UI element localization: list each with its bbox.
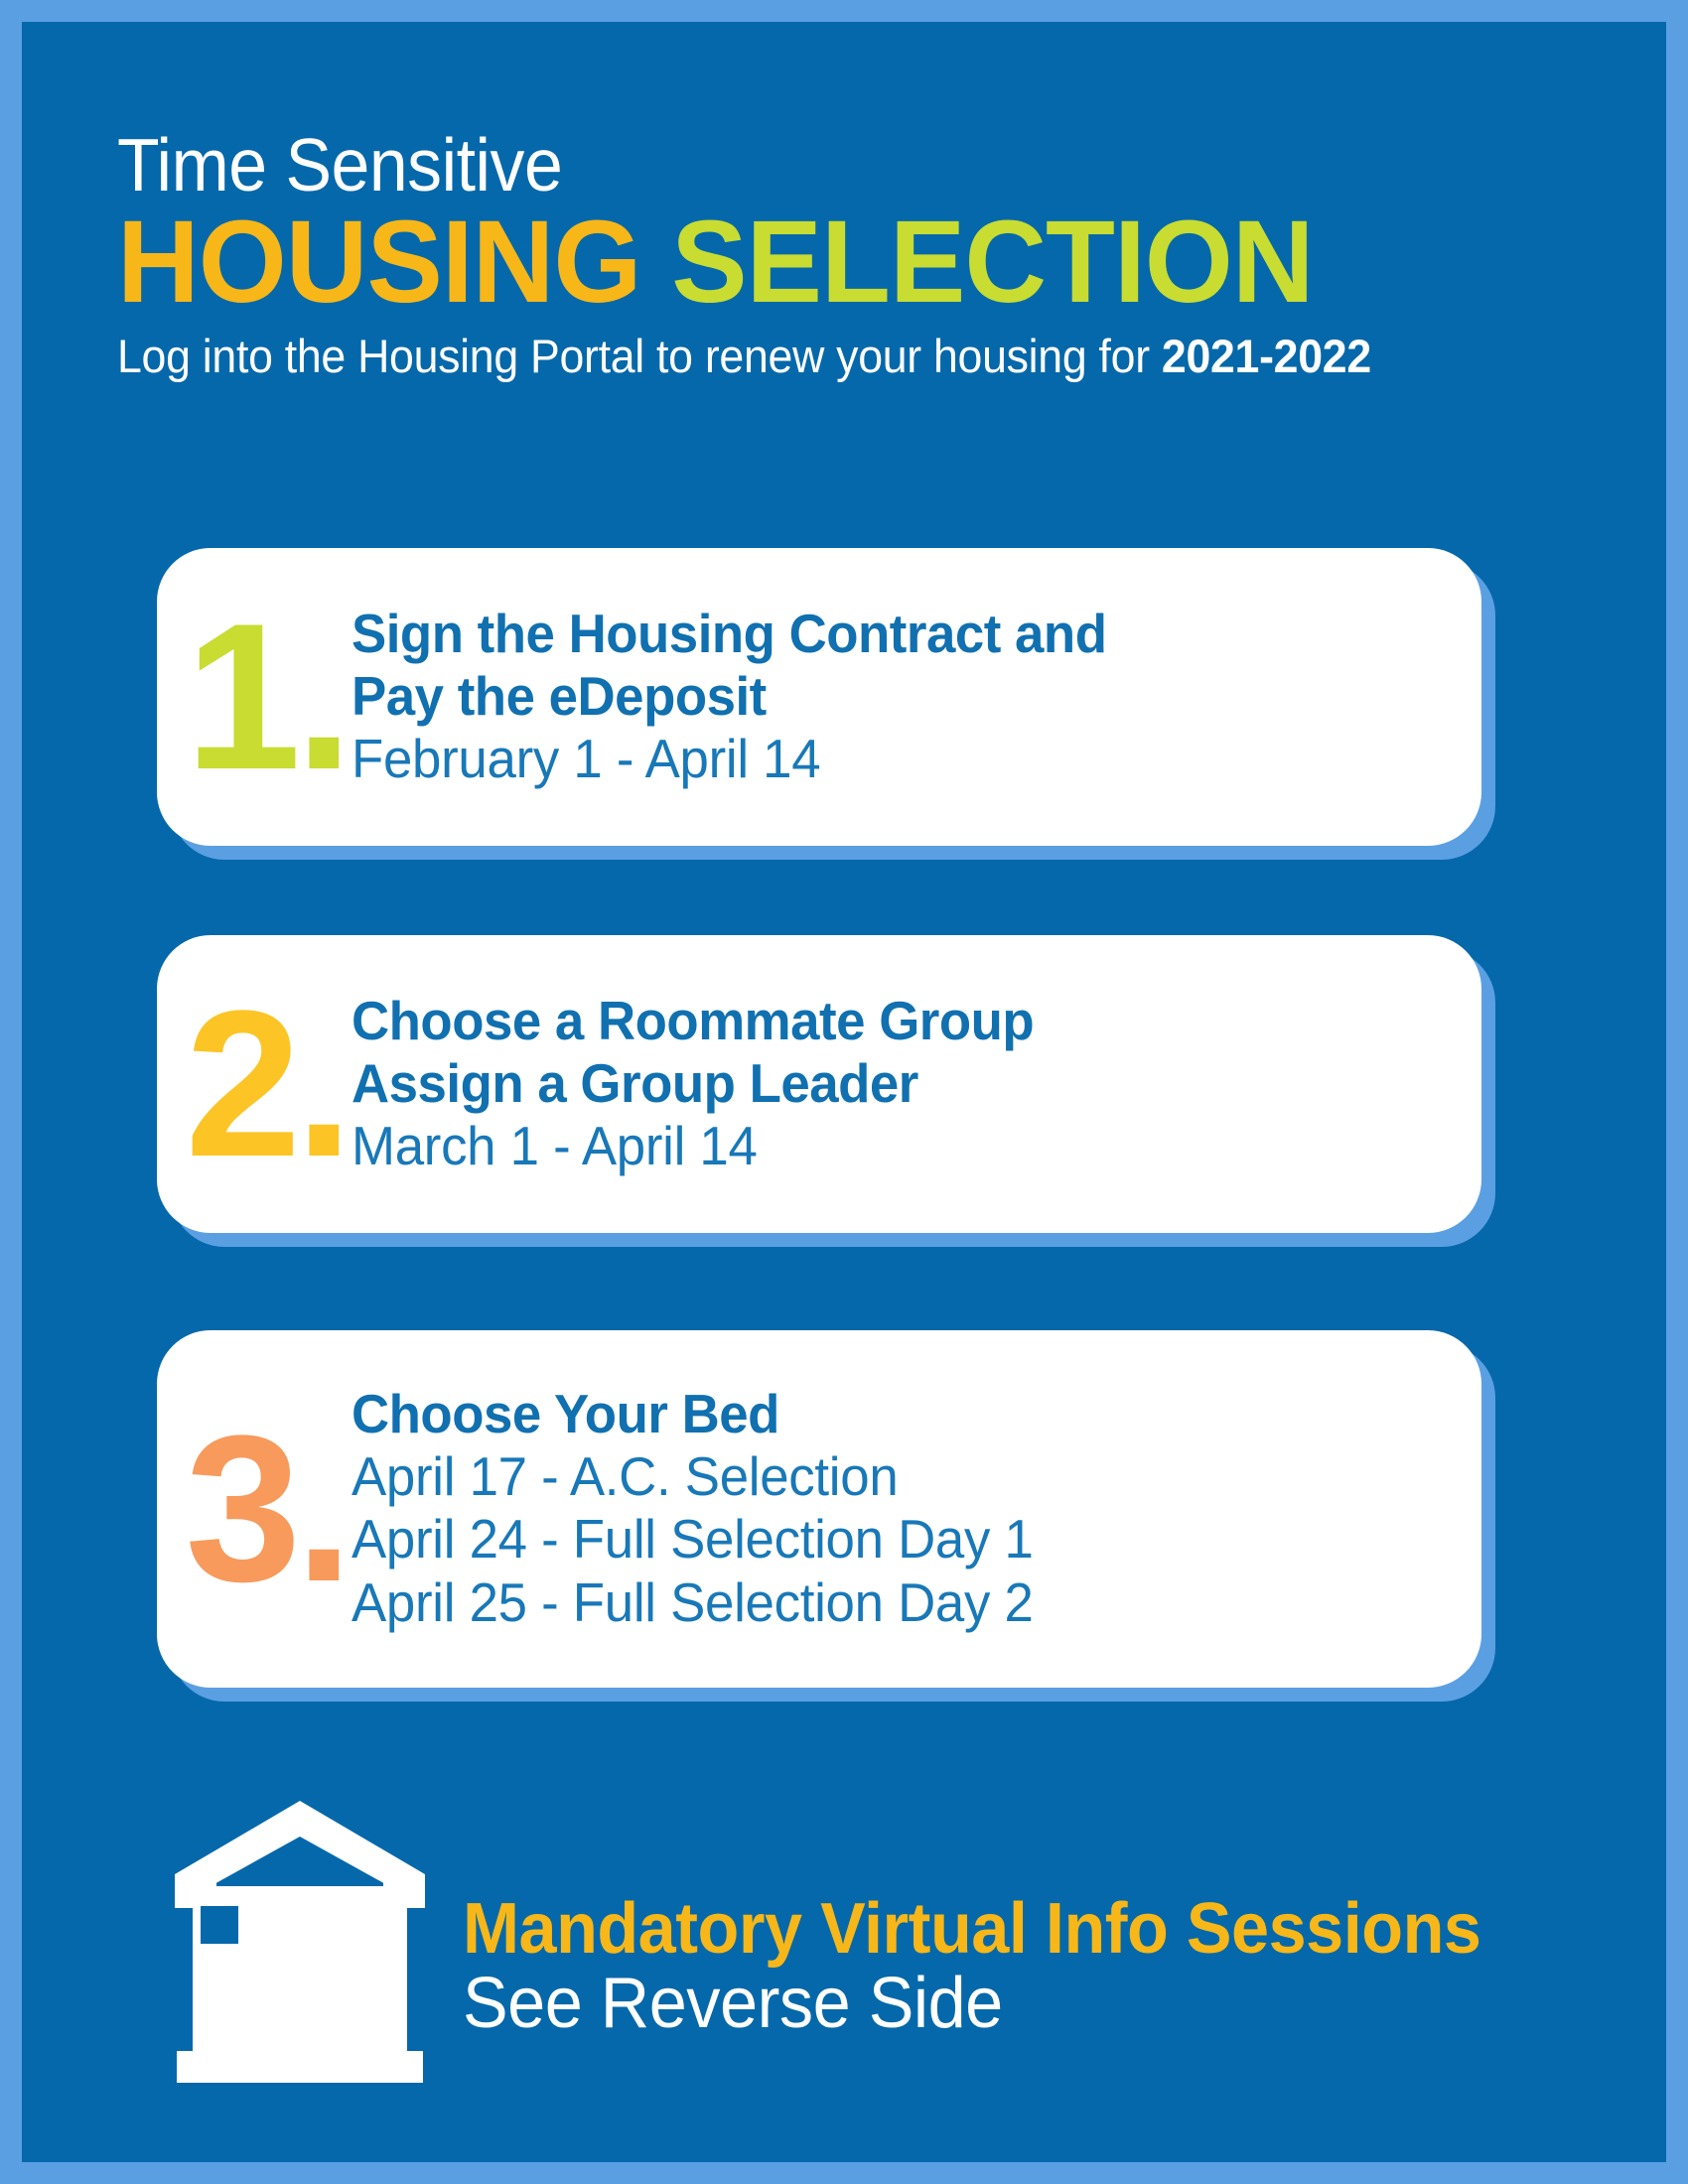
step-1-detail-1: February 1 - April 14 — [352, 728, 1410, 791]
footer-text-block: Mandatory Virtual Info Sessions See Reve… — [463, 1893, 1534, 2095]
step-3-heading-line-1: Choose Your Bed — [352, 1383, 1410, 1445]
subtitle-text: Log into the Housing Portal to renew you… — [117, 332, 1513, 380]
housing-selection-poster: Time Sensitive HOUSING SELECTION Log int… — [0, 0, 1688, 2184]
step-card-2-surface: 2. Choose a Roommate Group Assign a Grou… — [157, 935, 1481, 1233]
subtitle-lead: Log into the Housing Portal to renew you… — [117, 330, 1162, 382]
step-card-3-surface: 3. Choose Your Bed April 17 - A.C. Selec… — [157, 1330, 1481, 1688]
step-number-1: 1. — [157, 615, 352, 778]
step-1-heading-line-2: Pay the eDeposit — [352, 665, 1410, 728]
step-2-detail-1: March 1 - April 14 — [352, 1115, 1410, 1178]
step-card-2: 2. Choose a Roommate Group Assign a Grou… — [157, 935, 1481, 1233]
step-card-2-body: Choose a Roommate Group Assign a Group L… — [352, 990, 1481, 1177]
step-card-1: 1. Sign the Housing Contract and Pay the… — [157, 548, 1481, 846]
step-3-detail-3: April 25 - Full Selection Day 2 — [352, 1571, 1410, 1635]
kicker-text: Time Sensitive — [117, 129, 1483, 203]
poster-inner-panel: Time Sensitive HOUSING SELECTION Log int… — [22, 22, 1666, 2162]
step-2-heading-line-2: Assign a Group Leader — [352, 1052, 1410, 1115]
step-3-detail-1: April 17 - A.C. Selection — [352, 1445, 1410, 1509]
footer-line-see-reverse: See Reverse Side — [463, 1966, 1480, 2043]
title-word-selection: SELECTION — [671, 197, 1313, 328]
step-2-heading-line-1: Choose a Roommate Group — [352, 990, 1410, 1052]
step-1-heading-line-1: Sign the Housing Contract and — [352, 603, 1410, 665]
step-card-1-body: Sign the Housing Contract and Pay the eD… — [352, 603, 1481, 790]
step-3-detail-2: April 24 - Full Selection Day 1 — [352, 1508, 1410, 1571]
residence-hall-building-icon — [171, 1791, 429, 2089]
page-title: HOUSING SELECTION — [117, 208, 1543, 317]
title-word-housing: HOUSING — [117, 197, 640, 328]
step-number-2: 2. — [157, 1003, 352, 1165]
step-card-3: 3. Choose Your Bed April 17 - A.C. Selec… — [157, 1330, 1481, 1688]
poster-footer: Mandatory Virtual Info Sessions See Reve… — [171, 1791, 1534, 2095]
step-card-1-surface: 1. Sign the Housing Contract and Pay the… — [157, 548, 1481, 846]
poster-header: Time Sensitive HOUSING SELECTION Log int… — [117, 129, 1587, 380]
footer-line-mandatory-sessions: Mandatory Virtual Info Sessions — [463, 1893, 1480, 1966]
step-number-3: 3. — [157, 1428, 352, 1590]
step-card-3-body: Choose Your Bed April 17 - A.C. Selectio… — [352, 1383, 1481, 1635]
subtitle-year: 2021-2022 — [1162, 330, 1371, 382]
